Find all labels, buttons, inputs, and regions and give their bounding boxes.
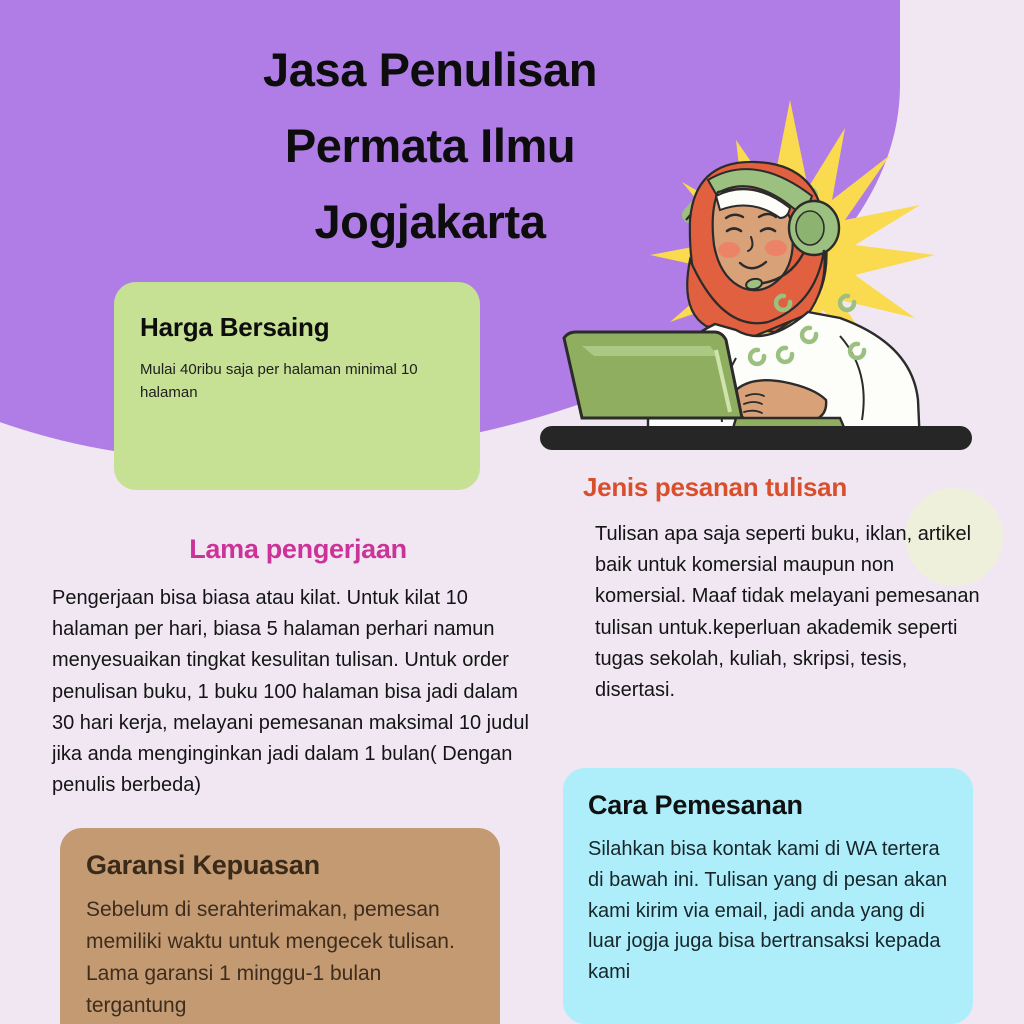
- section-jenis-body: Tulisan apa saja seperti buku, iklan, ar…: [595, 519, 983, 706]
- section-jenis-pesanan: Jenis pesanan tulisan Tulisan apa saja s…: [583, 472, 983, 706]
- card-harga-body: Mulai 40ribu saja per halaman minimal 10…: [140, 359, 454, 404]
- card-cara-body: Silahkan bisa kontak kami di WA tertera …: [588, 834, 948, 988]
- section-jenis-heading: Jenis pesanan tulisan: [583, 472, 983, 503]
- card-cara-heading: Cara Pemesanan: [588, 790, 948, 821]
- section-lama-body: Pengerjaan bisa biasa atau kilat. Untuk …: [52, 583, 544, 801]
- card-harga-heading: Harga Bersaing: [140, 312, 454, 343]
- card-cara-pemesanan: Cara Pemesanan Silahkan bisa kontak kami…: [563, 768, 973, 1024]
- hero-illustration: [540, 100, 1024, 470]
- card-harga-bersaing: Harga Bersaing Mulai 40ribu saja per hal…: [114, 282, 480, 490]
- section-lama-pengerjaan: Lama pengerjaan Pengerjaan bisa biasa at…: [52, 534, 544, 801]
- card-garansi-kepuasan: Garansi Kepuasan Sebelum di serahterimak…: [60, 828, 500, 1024]
- title-line-1: Jasa Penulisan: [150, 32, 710, 108]
- card-garansi-body: Sebelum di serahterimakan, pemesan memil…: [86, 894, 474, 1022]
- infographic-poster: Jasa Penulisan Permata Ilmu Jogjakarta: [0, 0, 1024, 1024]
- section-lama-heading: Lama pengerjaan: [52, 534, 544, 565]
- card-garansi-heading: Garansi Kepuasan: [86, 850, 474, 881]
